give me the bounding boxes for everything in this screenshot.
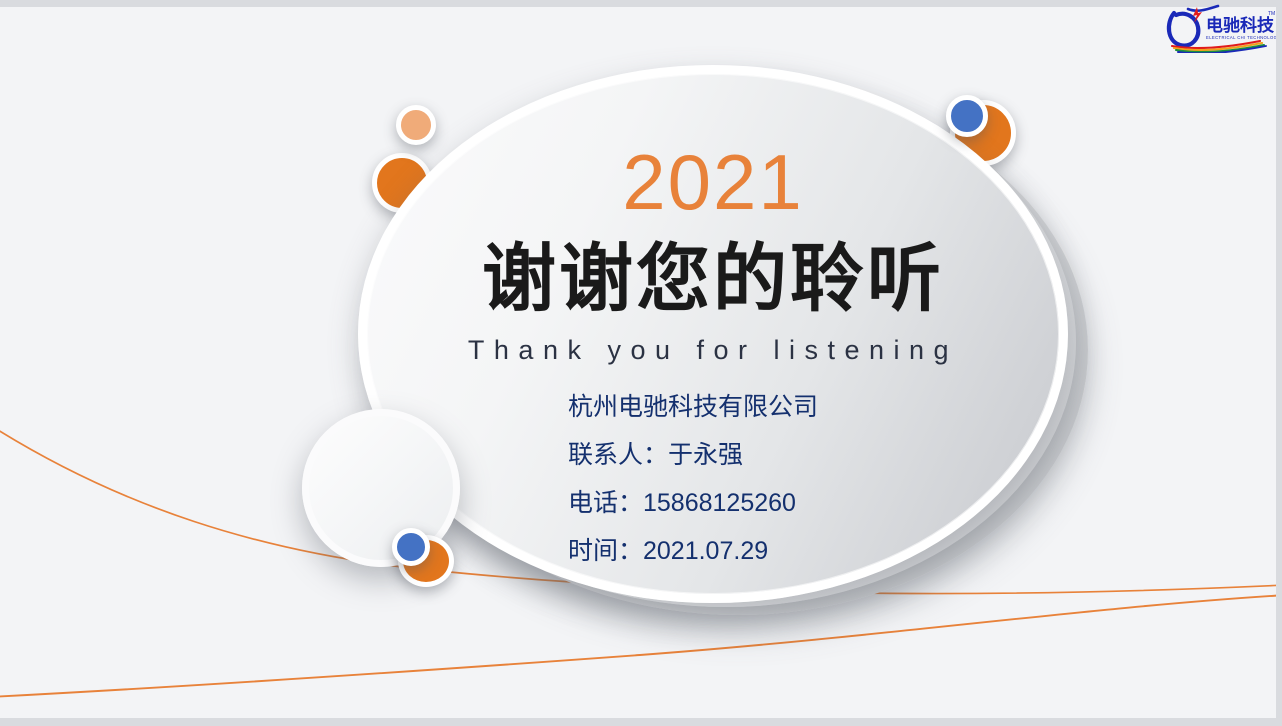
contact-phone: 电话：15868125260 xyxy=(568,491,998,516)
year-label: 2021 xyxy=(358,143,1068,221)
contact-date: 时间：2021.07.29 xyxy=(568,539,998,564)
headline-chinese: 谢谢您的聆听 xyxy=(358,240,1068,318)
presentation-slide: 2021 谢谢您的聆听 Thank you for listening 杭州电驰… xyxy=(0,7,1276,718)
company-logo: 电驰科技 TM ELECTRICAL CHI TECHNOLOGY xyxy=(1164,3,1276,53)
logo-name-cn: 电驰科技 xyxy=(1206,15,1275,35)
company-logo-mark: 电驰科技 TM ELECTRICAL CHI TECHNOLOGY xyxy=(1164,3,1276,53)
logo-name-en: ELECTRICAL CHI TECHNOLOGY xyxy=(1206,35,1276,40)
contact-info-block: 杭州电驰科技有限公司 联系人：于永强 电话：15868125260 时间：202… xyxy=(568,395,998,587)
headline-english: Thank you for listening xyxy=(358,337,1068,364)
contact-company: 杭州电驰科技有限公司 xyxy=(568,395,998,420)
contact-person: 联系人：于永强 xyxy=(568,443,998,468)
slide-viewer: 2021 谢谢您的聆听 Thank you for listening 杭州电驰… xyxy=(0,0,1282,726)
logo-trademark: TM xyxy=(1268,11,1275,17)
